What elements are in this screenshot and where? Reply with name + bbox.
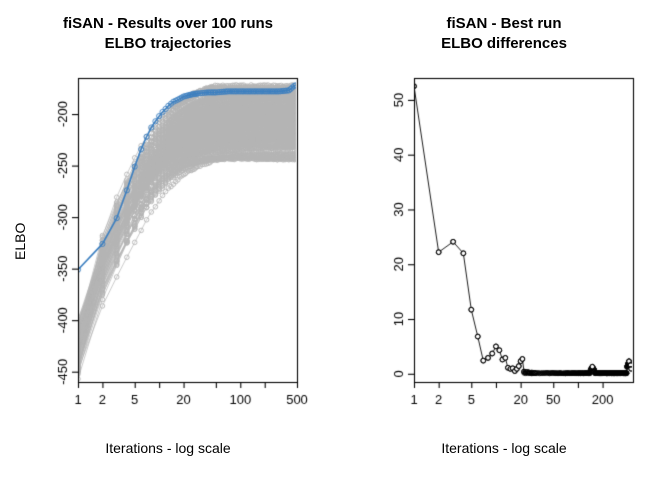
x-axis-title-right: Iterations - log scale: [336, 440, 672, 456]
plot-area-elbo-differences: [336, 0, 672, 480]
panel-elbo-trajectories: fiSAN - Results over 100 runsELBO trajec…: [0, 0, 336, 480]
figure-container: fiSAN - Results over 100 runsELBO trajec…: [0, 0, 672, 480]
panel-elbo-differences: fiSAN - Best runELBO differences Iterati…: [336, 0, 672, 480]
plot-area-elbo-trajectories: [0, 0, 336, 480]
y-axis-title-left: ELBO: [12, 223, 28, 260]
x-axis-title-left: Iterations - log scale: [0, 440, 336, 456]
